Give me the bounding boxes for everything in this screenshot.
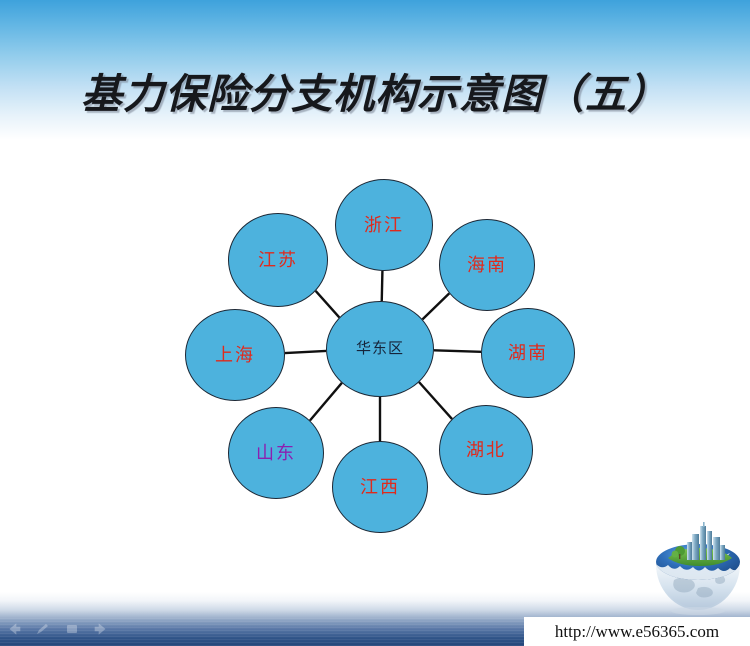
connector-line-山东	[310, 383, 342, 421]
diagram-node-江西[interactable]: 江西	[332, 441, 428, 533]
diagram-center-node[interactable]: 华东区	[326, 301, 434, 397]
node-label: 浙江	[364, 216, 404, 234]
connector-line-浙江	[382, 271, 383, 301]
diagram-node-浙江[interactable]: 浙江	[335, 179, 433, 271]
node-label: 上海	[215, 346, 255, 364]
connector-line-湖北	[419, 382, 452, 419]
slide-menu-icon[interactable]	[64, 622, 80, 636]
pen-annotation-icon[interactable]	[35, 622, 51, 636]
next-slide-icon[interactable]	[93, 622, 109, 636]
diagram-node-海南[interactable]: 海南	[439, 219, 535, 311]
diagram-node-上海[interactable]: 上海	[185, 309, 285, 401]
org-structure-diagram: 浙江海南湖南湖北江西山东上海江苏华东区	[180, 165, 580, 525]
connector-line-上海	[285, 351, 326, 353]
node-label: 山东	[256, 444, 296, 462]
slideshow-nav-controls[interactable]	[6, 622, 109, 636]
website-url-text: http://www.e56365.com	[555, 622, 719, 642]
diagram-node-湖南[interactable]: 湖南	[481, 308, 575, 398]
node-label: 江西	[360, 478, 400, 496]
connector-line-江苏	[316, 291, 340, 318]
diagram-node-江苏[interactable]: 江苏	[228, 213, 328, 307]
previous-slide-icon[interactable]	[6, 622, 22, 636]
diagram-node-山东[interactable]: 山东	[228, 407, 324, 499]
website-url-box[interactable]: http://www.e56365.com	[524, 617, 750, 646]
presentation-slide: 基力保险分支机构示意图（五） 浙江海南湖南湖北江西山东上海江苏华东区	[0, 0, 750, 646]
diagram-node-湖北[interactable]: 湖北	[439, 405, 533, 495]
node-label: 湖北	[466, 441, 506, 459]
node-label: 江苏	[258, 251, 298, 269]
connector-line-湖南	[434, 350, 481, 351]
slide-title: 基力保险分支机构示意图（五）	[0, 60, 750, 120]
earth-city-globe-logo	[648, 518, 748, 618]
node-label: 华东区	[356, 342, 404, 357]
node-label: 湖南	[508, 344, 548, 362]
connector-line-海南	[422, 293, 449, 319]
node-label: 海南	[467, 256, 507, 274]
